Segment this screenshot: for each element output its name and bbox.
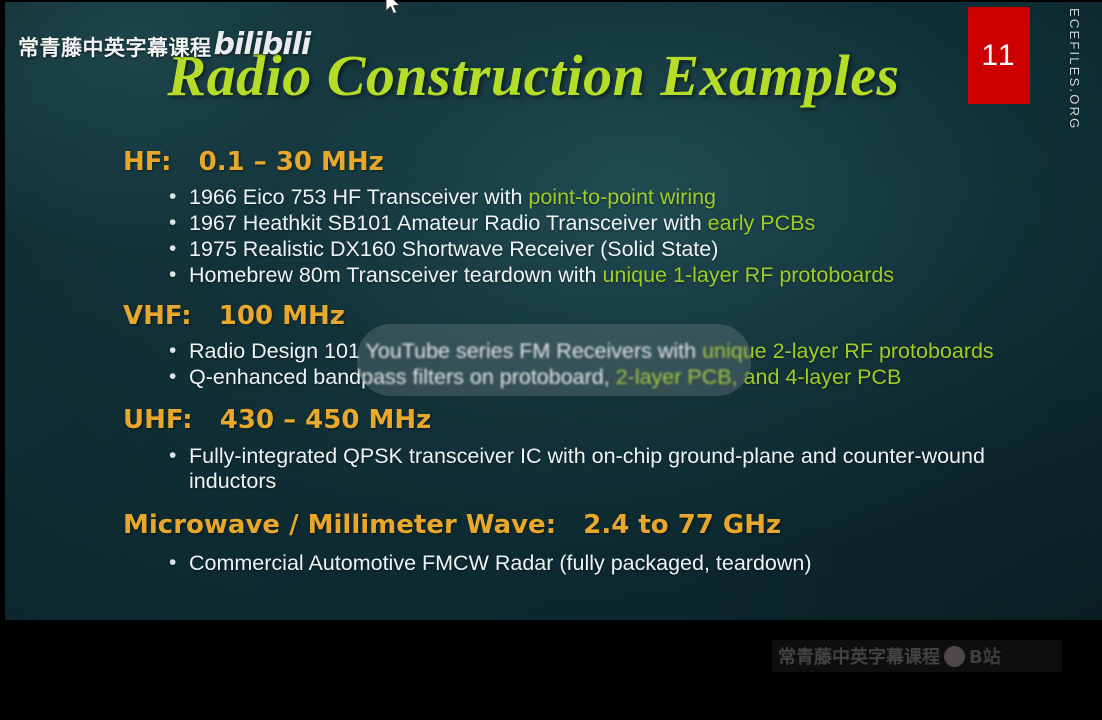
bullet-list: •1966 Eico 753 HF Transceiver with point… <box>123 185 1062 289</box>
band-heading: Microwave / Millimeter Wave: 2.4 to 77 G… <box>123 510 1062 542</box>
bullet-dot-icon: • <box>169 237 176 261</box>
list-item: •Commercial Automotive FMCW Radar (fully… <box>189 551 1062 577</box>
presentation-slide: 常青藤中英字幕课程 bilibili Radio Construction Ex… <box>5 2 1102 620</box>
bullet-dot-icon: • <box>169 444 176 468</box>
bilibili-logo-icon: bilibili <box>214 30 311 60</box>
video-player-viewport: 常青藤中英字幕课程 bilibili Radio Construction Ex… <box>0 0 1102 720</box>
highlighted-phrase: unique 2-layer RF protoboards <box>702 339 994 363</box>
list-item: •Fully-integrated QPSK transceiver IC wi… <box>189 444 1062 495</box>
bottom-watermark-logo-icon <box>944 646 965 667</box>
bottom-watermark-text: 常青藤中英字幕课程 <box>778 643 940 669</box>
bullet-dot-icon: • <box>169 211 176 235</box>
bullet-list: •Radio Design 101 YouTube series FM Rece… <box>123 339 1062 391</box>
bilibili-watermark-text: 常青藤中英字幕课程 <box>18 32 212 62</box>
band-section-microwave: Microwave / Millimeter Wave: 2.4 to 77 G… <box>123 510 1062 578</box>
bullet-dot-icon: • <box>169 365 176 389</box>
bottom-watermark-suffix: B站 <box>969 643 1001 669</box>
band-section-hf: HF: 0.1 – 30 MHz•1966 Eico 753 HF Transc… <box>123 147 1062 289</box>
list-item-text: 1966 Eico 753 HF Transceiver with <box>189 185 528 209</box>
bullet-dot-icon: • <box>169 263 176 287</box>
bullet-dot-icon: • <box>169 551 176 575</box>
page-number-badge: 11 <box>968 7 1030 104</box>
list-item: •Q-enhanced bandpass filters on protoboa… <box>189 365 1062 391</box>
band-heading: HF: 0.1 – 30 MHz <box>123 147 1062 179</box>
bullet-dot-icon: • <box>169 339 176 363</box>
bullet-dot-icon: • <box>169 185 176 209</box>
list-item-text: 1967 Heathkit SB101 Amateur Radio Transc… <box>189 211 708 235</box>
bottom-watermark: 常青藤中英字幕课程 B站 <box>772 640 1062 672</box>
highlighted-phrase: early PCBs <box>708 211 816 235</box>
page-number-value: 11 <box>981 39 1016 73</box>
highlighted-phrase: 2-layer PCB, and 4-layer PCB <box>616 365 902 389</box>
bullet-list: •Fully-integrated QPSK transceiver IC wi… <box>123 444 1062 495</box>
list-item: •Homebrew 80m Transceiver teardown with … <box>189 263 1062 289</box>
band-section-vhf: VHF: 100 MHz•Radio Design 101 YouTube se… <box>123 301 1062 391</box>
list-item-text: Q-enhanced bandpass filters on protoboar… <box>189 365 616 389</box>
list-item: •1975 Realistic DX160 Shortwave Receiver… <box>189 237 1062 263</box>
site-label-text: ECEFILES.ORG <box>1067 8 1082 130</box>
list-item-text: 1975 Realistic DX160 Shortwave Receiver … <box>189 237 718 261</box>
list-item-text: Commercial Automotive FMCW Radar (fully … <box>189 551 812 575</box>
band-heading: UHF: 430 – 450 MHz <box>123 405 1062 437</box>
highlighted-phrase: point-to-point wiring <box>528 185 716 209</box>
bilibili-watermark: 常青藤中英字幕课程 bilibili <box>18 32 310 62</box>
list-item: •1966 Eico 753 HF Transceiver with point… <box>189 185 1062 211</box>
site-label: ECEFILES.ORG <box>1067 8 1082 128</box>
highlighted-phrase: unique 1-layer RF protoboards <box>602 263 894 287</box>
list-item: •1967 Heathkit SB101 Amateur Radio Trans… <box>189 211 1062 237</box>
slide-header: 常青藤中英字幕课程 bilibili Radio Construction Ex… <box>5 2 1102 112</box>
band-heading: VHF: 100 MHz <box>123 301 1062 333</box>
slide-body: HF: 0.1 – 30 MHz•1966 Eico 753 HF Transc… <box>123 147 1062 581</box>
list-item-text: Fully-integrated QPSK transceiver IC wit… <box>189 444 985 493</box>
list-item-text: Homebrew 80m Transceiver teardown with <box>189 263 602 287</box>
list-item: •Radio Design 101 YouTube series FM Rece… <box>189 339 1062 365</box>
list-item-text: Radio Design 101 YouTube series FM Recei… <box>189 339 702 363</box>
bullet-list: •Commercial Automotive FMCW Radar (fully… <box>123 551 1062 577</box>
band-section-uhf: UHF: 430 – 450 MHz•Fully-integrated QPSK… <box>123 405 1062 496</box>
